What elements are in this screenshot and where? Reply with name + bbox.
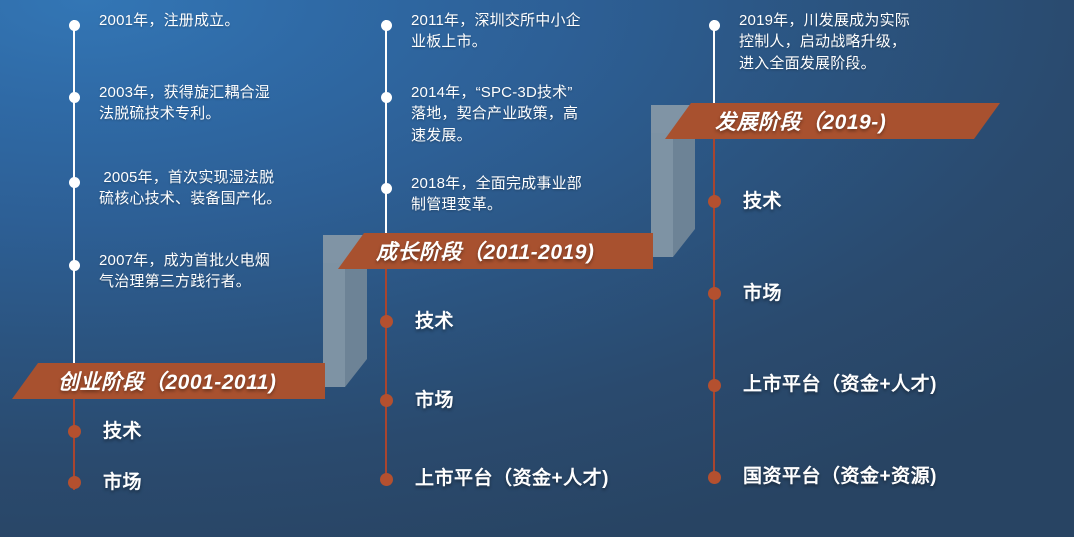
timeline-dot-white — [381, 183, 392, 194]
pillar-dot — [68, 476, 81, 489]
event-label: 2018年，全面完成事业部 制管理变革。 — [411, 173, 582, 216]
stage-banner-label: 创业阶段（2001-2011) — [12, 363, 325, 399]
event-label: 2019年，川发展成为实际 控制人，启动战略升级， 进入全面发展阶段。 — [739, 10, 910, 74]
timeline-dot-white — [69, 177, 80, 188]
stage-banner-growth[interactable]: 成长阶段（2011-2019) — [338, 233, 653, 269]
pillar-label: 市场 — [743, 284, 782, 303]
timeline-dot-white — [381, 20, 392, 31]
stage-banner-startup[interactable]: 创业阶段（2001-2011) — [12, 363, 325, 399]
pillar-dot — [708, 195, 721, 208]
event-label: 2014年，“SPC-3D技术” 落地，契合产业政策，高 速发展。 — [411, 82, 578, 146]
timeline-dot-white — [381, 92, 392, 103]
pillar-dot — [708, 287, 721, 300]
stage-banner-label: 成长阶段（2011-2019) — [338, 233, 653, 269]
pillar-label: 市场 — [103, 473, 142, 492]
timeline-dot-white — [69, 20, 80, 31]
stage-banner-label: 发展阶段（2019-) — [665, 103, 1000, 139]
timeline-slide: 2001年，注册成立。 2003年，获得旋汇耦合湿 法脱硫技术专利。 2005年… — [0, 0, 1074, 537]
pillar-label: 技术 — [743, 192, 782, 211]
event-label: 2001年，注册成立。 — [99, 10, 240, 31]
pillar-label: 技术 — [103, 422, 142, 441]
pillar-label: 国资平台（资金+资源) — [743, 467, 937, 486]
timeline-axis-red-growth — [385, 265, 387, 480]
pillar-label: 市场 — [415, 391, 454, 410]
pillar-dot — [380, 315, 393, 328]
timeline-dot-white — [709, 20, 720, 31]
pillar-dot — [68, 425, 81, 438]
pillar-dot — [708, 379, 721, 392]
event-label: 2003年，获得旋汇耦合湿 法脱硫技术专利。 — [99, 82, 270, 125]
pillar-label: 上市平台（资金+人才) — [743, 375, 937, 394]
pillar-dot — [708, 471, 721, 484]
timeline-axis-white-startup — [73, 20, 75, 375]
pillar-label: 上市平台（资金+人才) — [415, 469, 609, 488]
event-label: 2007年，成为首批火电烟 气治理第三方践行者。 — [99, 250, 270, 293]
pillar-dot — [380, 394, 393, 407]
pillar-dot — [380, 473, 393, 486]
pillar-label: 技术 — [415, 312, 454, 331]
timeline-dot-white — [69, 92, 80, 103]
timeline-axis-red-startup — [73, 390, 75, 490]
stage-banner-development[interactable]: 发展阶段（2019-) — [665, 103, 1000, 139]
timeline-axis-red-development — [713, 135, 715, 480]
riser-side-face — [651, 133, 673, 257]
event-label: 2011年，深圳交所中小企 业板上市。 — [411, 10, 581, 53]
event-label: 2005年，首次实现湿法脱 硫核心技术、装备国产化。 — [99, 167, 281, 210]
riser-side-face — [323, 263, 345, 387]
timeline-axis-white-growth — [385, 20, 387, 248]
timeline-dot-white — [69, 260, 80, 271]
